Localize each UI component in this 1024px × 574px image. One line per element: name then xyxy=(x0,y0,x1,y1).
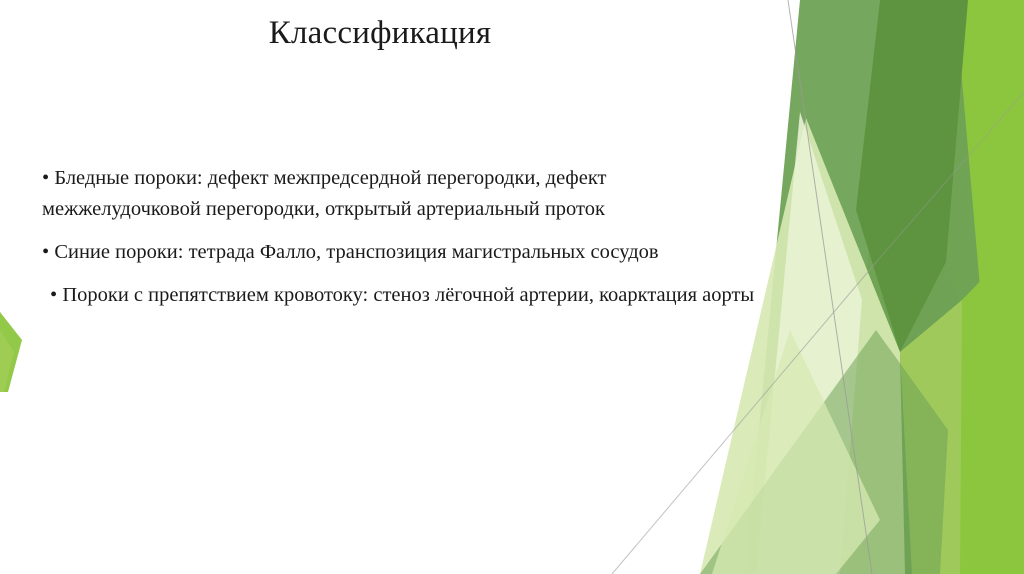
bullet-paragraph-obstructive-defects: • Пороки с препятствием кровотоку: стено… xyxy=(42,280,762,311)
left-accent-sliver xyxy=(0,312,22,392)
facet-bright-wedge-upper xyxy=(862,0,1024,574)
facet-pale-lower-overlay xyxy=(712,330,880,574)
thin-diagonal-line-steep xyxy=(788,0,872,574)
facet-very-pale-triangle xyxy=(756,112,862,574)
facet-dark-diamond xyxy=(856,0,968,352)
thin-diagonal-line-shallow-extend xyxy=(878,92,1024,260)
bullet-marker: • xyxy=(42,167,54,189)
slide-body: • Бледные пороки: дефект межпредсердной … xyxy=(42,163,762,312)
left-accent-sliver-pale xyxy=(0,330,14,392)
bullet-text: Синие пороки: тетрада Фалло, транспозици… xyxy=(54,241,658,263)
facet-bright-lower-block xyxy=(960,236,1024,574)
bullet-paragraph-blue-defects: • Синие пороки: тетрада Фалло, транспози… xyxy=(42,237,762,268)
facet-medium-green-band xyxy=(745,0,1005,574)
bullet-marker: • xyxy=(50,284,62,306)
presentation-slide: Классификация • Бледные пороки: дефект м… xyxy=(0,0,1024,574)
bullet-text: Бледные пороки: дефект межпредсердной пе… xyxy=(42,167,606,220)
bullet-paragraph-pale-defects: • Бледные пороки: дефект межпредсердной … xyxy=(42,163,762,225)
facet-dark-lower-tip xyxy=(900,262,1024,574)
bullet-text: Пороки с препятствием кровотоку: стеноз … xyxy=(62,284,754,306)
facet-medium-lower-triangle xyxy=(700,330,948,574)
facet-light-green-wedge xyxy=(900,300,1024,574)
slide-title: Классификация xyxy=(0,14,760,54)
facet-right-bright-base xyxy=(840,0,1024,574)
bullet-marker: • xyxy=(42,241,54,263)
